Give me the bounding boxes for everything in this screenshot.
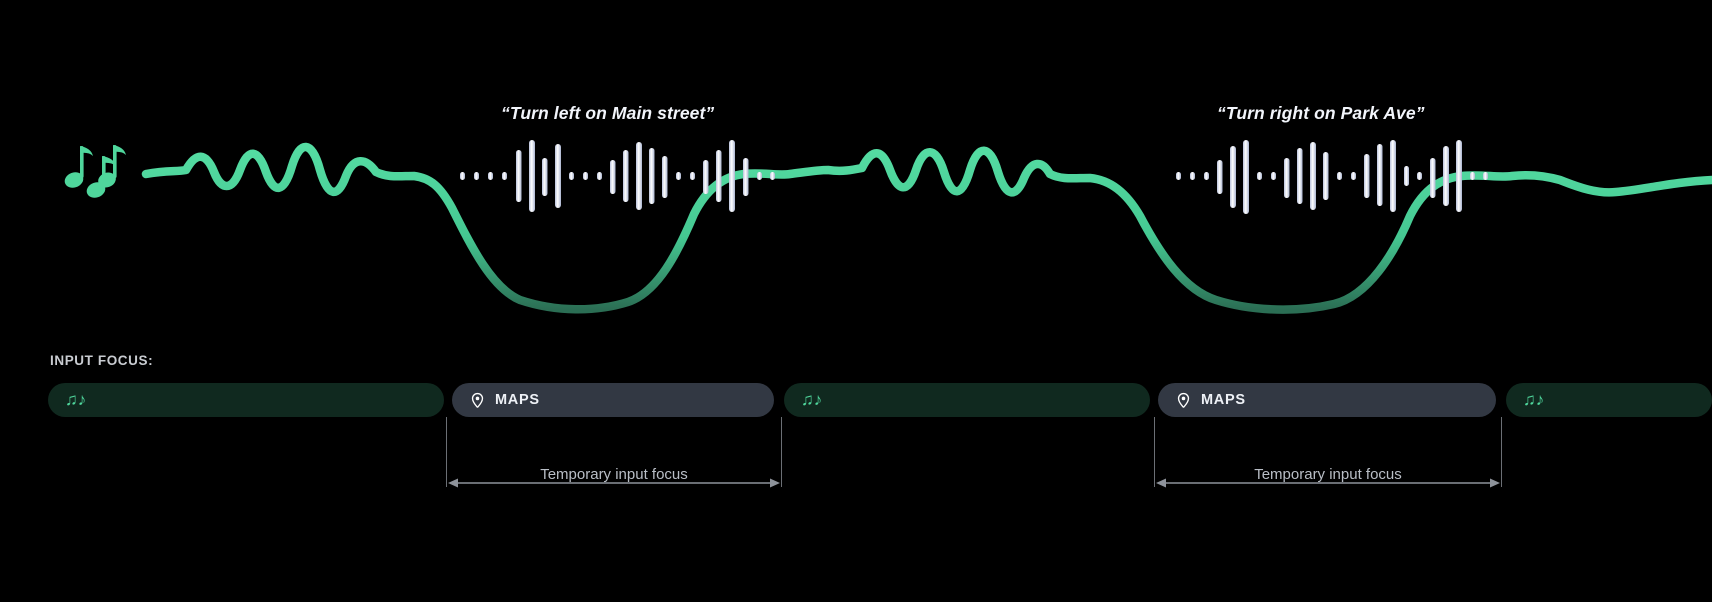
music-audio-line xyxy=(146,147,1712,310)
speech-bars-group-2 xyxy=(1176,140,1488,214)
map-pin-icon xyxy=(469,392,486,409)
music-note-icon: ♫♪ xyxy=(1523,391,1544,408)
voice-input-focus-diagram: “Turn left on Main street” “Turn right o… xyxy=(0,0,1712,602)
focus-pill-music-1[interactable]: ♫♪ xyxy=(48,383,444,417)
focus-pill-label: MAPS xyxy=(1201,392,1246,408)
input-focus-section-label: INPUT FOCUS: xyxy=(50,353,153,368)
map-pin-icon xyxy=(1175,392,1192,409)
focus-pill-music-3[interactable]: ♫♪ xyxy=(1506,383,1712,417)
music-note-icon xyxy=(63,145,126,200)
bracket-arrow xyxy=(446,467,782,489)
speech-quote-label-1: “Turn left on Main street” xyxy=(501,103,714,124)
focus-pill-music-2[interactable]: ♫♪ xyxy=(784,383,1150,417)
focus-pill-maps-1[interactable]: MAPS xyxy=(452,383,774,417)
focus-pill-label: MAPS xyxy=(495,392,540,408)
bracket-arrow xyxy=(1154,467,1502,489)
audio-waveform-svg xyxy=(0,0,1712,340)
focus-pill-maps-2[interactable]: MAPS xyxy=(1158,383,1496,417)
music-note-icon: ♫♪ xyxy=(801,391,822,408)
waveform-area: “Turn left on Main street” “Turn right o… xyxy=(0,0,1712,340)
music-note-icon: ♫♪ xyxy=(65,391,86,408)
speech-quote-label-2: “Turn right on Park Ave” xyxy=(1217,103,1425,124)
